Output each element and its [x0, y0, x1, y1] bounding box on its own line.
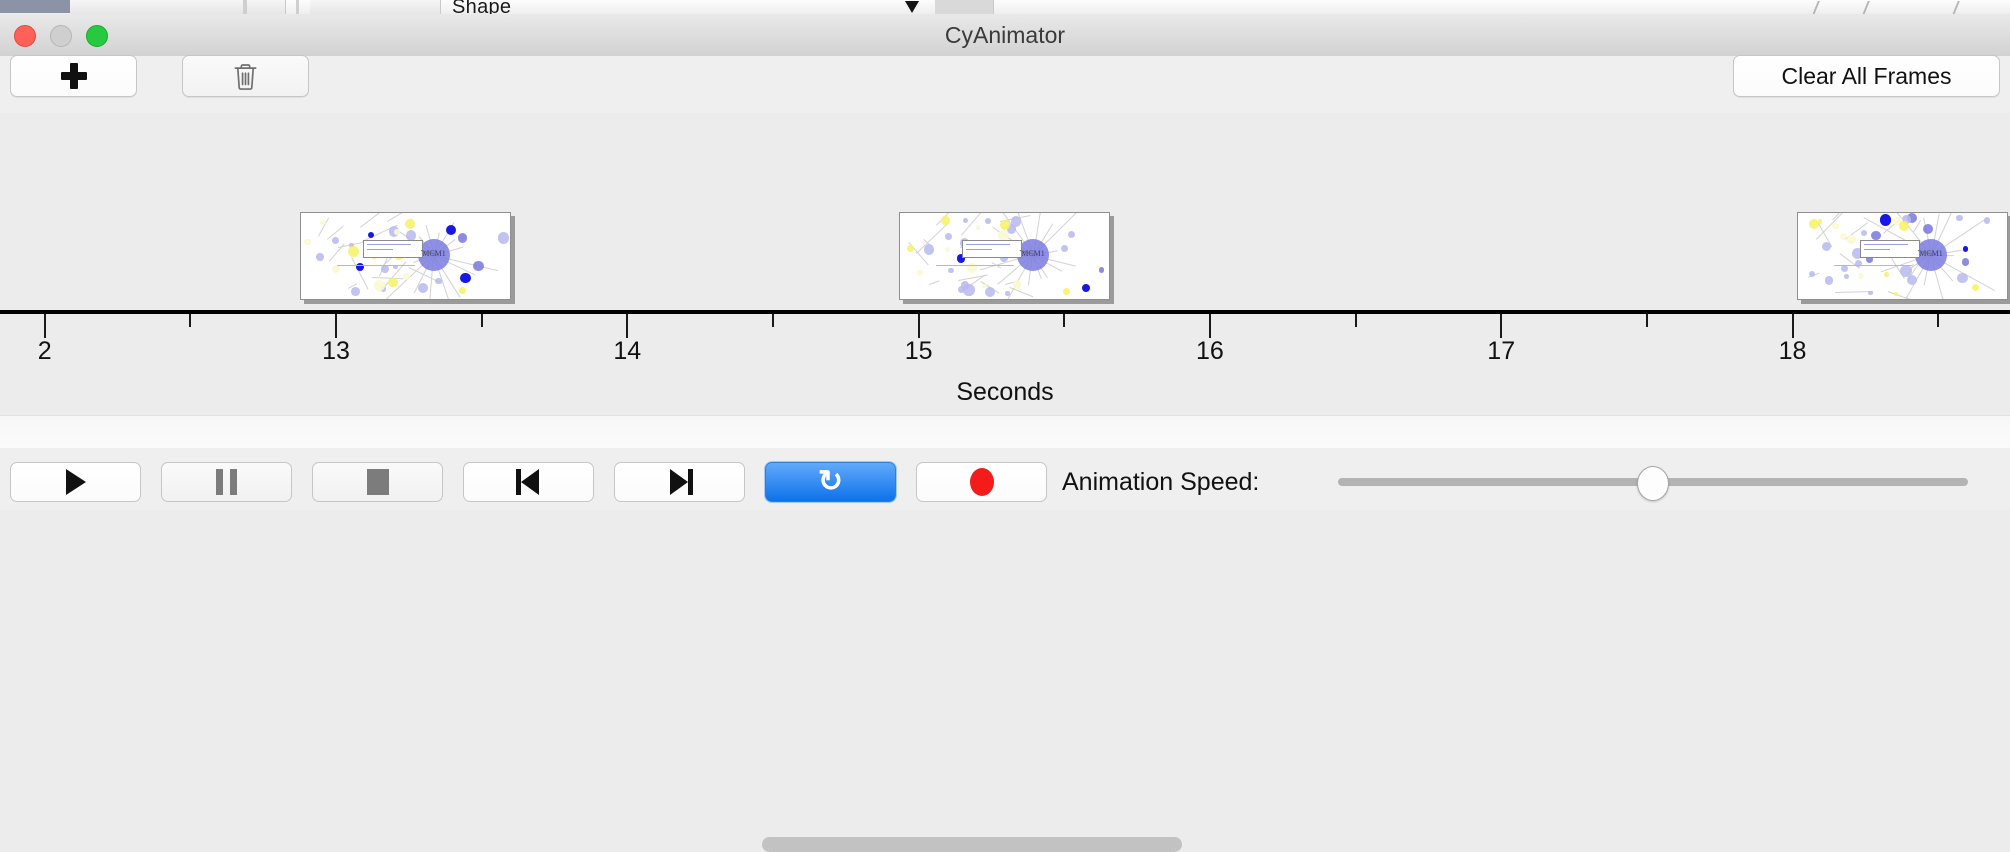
graph-node — [1844, 274, 1849, 279]
graph-node — [394, 229, 400, 235]
graph-node — [320, 220, 325, 225]
graph-node — [381, 265, 389, 273]
axis-tick-major — [44, 314, 46, 338]
graph-annotation-text-line — [1864, 244, 1908, 245]
keyframe-thumbnail[interactable]: MCM1 — [899, 212, 1114, 304]
graph-node — [1082, 284, 1090, 292]
axis-tick-major — [335, 314, 337, 338]
graph-node — [1063, 288, 1070, 295]
background-tab — [935, 0, 994, 14]
axis-tick-label: 18 — [1779, 337, 1807, 366]
background-divider — [296, 0, 299, 14]
horizontal-scrollbar-track[interactable] — [0, 415, 2010, 449]
graph-node — [460, 273, 470, 283]
axis-tick-minor — [1937, 314, 1939, 327]
background-divider — [243, 0, 247, 14]
axis-tick-minor — [772, 314, 774, 327]
graph-node — [1972, 284, 1979, 291]
graph-annotation-text-line — [367, 249, 393, 250]
graph-node — [1880, 214, 1891, 225]
graph-node — [1005, 291, 1010, 296]
keyframe-thumbnail[interactable]: MCM1 — [300, 212, 515, 304]
background-divider — [1952, 1, 1960, 15]
graph-node — [316, 253, 324, 261]
record-button[interactable] — [916, 462, 1047, 502]
thumbnail-canvas: MCM1 — [1797, 212, 2008, 300]
graph-node — [1847, 235, 1856, 244]
graph-node — [1068, 231, 1075, 238]
trash-icon — [232, 61, 259, 91]
graph-edge — [929, 280, 940, 285]
graph-node — [1825, 276, 1833, 284]
graph-node — [907, 245, 914, 252]
graph-node — [1061, 245, 1068, 252]
delete-frame-button[interactable] — [182, 55, 309, 97]
graph-annotation-text-line — [367, 244, 411, 245]
graph-node — [1832, 223, 1838, 229]
pause-icon — [216, 469, 237, 495]
graph-annotation-text-line — [1864, 249, 1890, 250]
graph-node — [1099, 267, 1105, 273]
graph-edge — [958, 275, 988, 281]
axis-tick-label: 16 — [1196, 337, 1224, 366]
loop-icon: ↻ — [818, 467, 843, 497]
cyanimator-window: Shape CyAnimator Clear All Frames MCM1 M… — [0, 0, 2010, 510]
loop-button[interactable]: ↻ — [765, 462, 896, 502]
axis-tick-minor — [481, 314, 483, 327]
graph-edge — [372, 277, 403, 279]
pause-button[interactable] — [161, 462, 292, 502]
graph-edge — [1887, 291, 1920, 300]
graph-node — [405, 219, 415, 229]
graph-node — [1899, 221, 1909, 231]
add-frame-button[interactable] — [10, 55, 137, 97]
graph-node — [1923, 224, 1933, 234]
stop-icon — [367, 469, 389, 495]
background-divider — [1812, 1, 1820, 15]
graph-edge — [961, 212, 983, 235]
graph-node — [961, 281, 969, 289]
record-icon — [970, 468, 994, 496]
graph-node — [473, 261, 484, 272]
thumbnail-canvas: MCM1 — [899, 212, 1110, 300]
network-graph: MCM1 — [1798, 213, 2007, 299]
axis-tick-major — [918, 314, 920, 338]
graph-node — [1884, 272, 1889, 277]
background-tab — [70, 0, 231, 14]
graph-annotation-text-line — [966, 244, 1010, 245]
graph-node — [1809, 219, 1819, 229]
horizontal-scrollbar-thumb[interactable] — [762, 837, 1182, 852]
skip-forward-icon — [667, 469, 693, 495]
graph-node — [985, 218, 991, 224]
graph-node — [941, 216, 949, 224]
graph-node — [458, 233, 468, 243]
graph-node — [403, 273, 410, 280]
graph-node — [418, 283, 428, 293]
graph-node — [368, 232, 374, 238]
axis-tick-label: 13 — [322, 337, 350, 366]
graph-node — [1956, 215, 1963, 222]
graph-node — [1957, 273, 1968, 284]
window-title: CyAnimator — [0, 14, 2010, 56]
graph-node — [1861, 230, 1867, 236]
background-divider — [1862, 1, 1870, 15]
graph-node — [459, 287, 466, 294]
graph-node — [498, 232, 510, 244]
graph-node — [963, 218, 968, 223]
graph-node — [1822, 242, 1831, 251]
skip-to-start-button[interactable] — [463, 462, 594, 502]
graph-node — [446, 225, 456, 235]
graph-node — [917, 270, 923, 276]
graph-node — [985, 287, 995, 297]
timeline-axis[interactable] — [0, 310, 2010, 314]
background-caret-icon — [905, 1, 919, 13]
graph-node — [948, 268, 954, 274]
axis-tick-label: 17 — [1487, 337, 1515, 366]
clear-all-frames-button[interactable]: Clear All Frames — [1733, 55, 2000, 97]
axis-tick-minor — [189, 314, 191, 327]
graph-node — [1013, 280, 1021, 288]
axis-title: Seconds — [0, 378, 2010, 407]
play-button[interactable] — [10, 462, 141, 502]
graph-node — [332, 237, 339, 244]
graph-node — [945, 247, 950, 252]
graph-node — [388, 278, 397, 287]
background-app-word: Shape — [452, 0, 511, 15]
skip-back-icon — [516, 469, 542, 495]
graph-node — [374, 280, 384, 290]
title-bar: CyAnimator — [0, 14, 2010, 57]
graph-node — [1963, 246, 1968, 251]
axis-tick-label: 2 — [38, 337, 52, 366]
stop-button[interactable] — [312, 462, 443, 502]
graph-node — [945, 233, 953, 241]
graph-edge — [1835, 291, 1873, 293]
axis-tick-major — [1209, 314, 1211, 338]
axis-tick-minor — [1646, 314, 1648, 327]
graph-node — [1871, 231, 1880, 240]
graph-caption-line — [337, 265, 415, 266]
graph-node — [1907, 275, 1917, 285]
axis-tick-major — [626, 314, 628, 338]
axis-tick-minor — [1355, 314, 1357, 327]
background-tab — [230, 0, 286, 14]
graph-node — [348, 246, 359, 257]
graph-node — [332, 265, 340, 273]
graph-node — [1858, 273, 1864, 279]
thumbnail-canvas: MCM1 — [300, 212, 511, 300]
graph-node — [1809, 271, 1815, 277]
axis-tick-label: 14 — [613, 337, 641, 366]
network-graph: MCM1 — [900, 213, 1109, 299]
graph-node — [1868, 291, 1873, 296]
background-tab — [310, 0, 441, 14]
play-icon — [66, 469, 86, 495]
axis-tick-minor — [1063, 314, 1065, 327]
graph-node — [1984, 217, 1990, 223]
graph-node — [1962, 258, 1969, 265]
graph-node — [1900, 265, 1912, 277]
animation-speed-label: Animation Speed: — [1062, 462, 1259, 502]
graph-node — [924, 244, 934, 254]
graph-node — [304, 239, 311, 246]
axis-tick-major — [1500, 314, 1502, 338]
plus-icon — [61, 63, 87, 89]
axis-tick-major — [1792, 314, 1794, 338]
axis-tick-label: 15 — [905, 337, 933, 366]
graph-caption-line — [936, 265, 1014, 266]
skip-to-end-button[interactable] — [614, 462, 745, 502]
graph-node — [976, 225, 980, 229]
network-graph: MCM1 — [301, 213, 510, 299]
graph-annotation-text-line — [966, 249, 992, 250]
keyframe-thumbnail[interactable]: MCM1 — [1797, 212, 2010, 304]
graph-node — [998, 230, 1009, 241]
animation-speed-slider-knob[interactable] — [1637, 466, 1669, 501]
background-selected-tab — [0, 0, 70, 13]
graph-edge — [1009, 287, 1033, 297]
graph-caption-line — [1834, 265, 1912, 266]
graph-node — [351, 287, 360, 296]
background-app-strip: Shape — [0, 0, 2010, 15]
